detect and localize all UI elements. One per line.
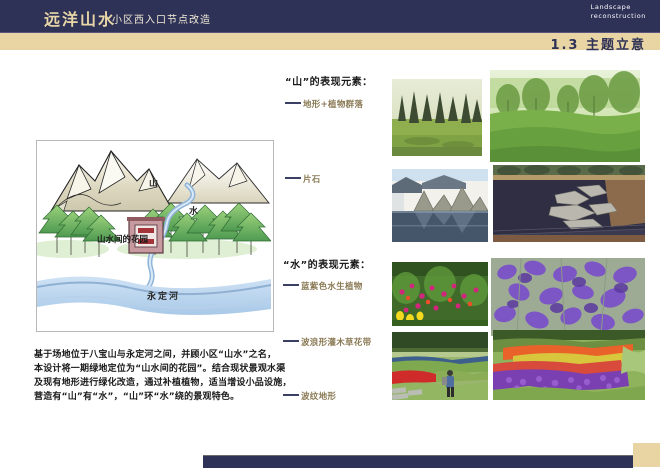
- footer-accent-block: [633, 443, 660, 467]
- page-header: 远洋山水 小区西入口节点改造 Landscape reconstruction: [0, 0, 660, 32]
- leader-line-icon: [283, 340, 299, 342]
- diagram-label-garden: 山水间的花园: [97, 233, 148, 245]
- description-line-2: 本设计将一期绿地定位为“山水间的花园”。结合现状景观水渠: [34, 362, 296, 376]
- brand-subtitle: 小区西入口节点改造: [112, 11, 211, 26]
- mountain-elements-heading: “山”的表现元素：: [285, 73, 373, 88]
- english-title-line1: Landscape: [591, 3, 646, 12]
- photo-conifer-lawn: [392, 79, 482, 156]
- description-line-4: 营造有“山”有“水”，“山”环“水”绕的景观特色。: [34, 390, 296, 404]
- diagram-label-river: 永定河: [147, 289, 180, 302]
- diagram-label-water: 水: [189, 204, 199, 217]
- mountain-element-item-1: 地形+植物群落: [285, 98, 373, 110]
- footer-bar: [203, 455, 633, 468]
- water-elements-heading: “水”的表现元素：: [283, 256, 371, 271]
- leader-line-icon: [283, 394, 299, 396]
- leader-line-icon: [283, 284, 299, 286]
- photo-white-wall-rockery: [392, 169, 488, 242]
- english-title: Landscape reconstruction: [591, 3, 646, 21]
- photo-wave-flower-beds: [493, 330, 645, 400]
- concept-diagram: 山 水 山水间的花园 永定河: [36, 140, 274, 332]
- description-line-1: 基于场地位于八宝山与永定河之间，并顾小区“山水”之名，: [34, 348, 296, 362]
- photo-stone-water-court: [493, 165, 645, 242]
- photo-mixed-perennials: [392, 262, 488, 326]
- water-element-item-1: 蓝紫色水生植物: [283, 280, 371, 292]
- diagram-label-mountain: 山: [149, 176, 159, 189]
- mountain-element-item-2: 片石: [285, 173, 373, 185]
- section-band-rule: [0, 32, 660, 33]
- water-element-item-2: 波浪形灌木草花带: [283, 336, 371, 348]
- brand-title: 远洋山水: [44, 6, 116, 30]
- water-elements-block: “水”的表现元素： 蓝紫色水生植物 波浪形灌木草花带 波纹地形: [283, 256, 371, 402]
- water-element-item-3: 波纹地形: [283, 390, 371, 402]
- photo-purple-clematis: [491, 258, 645, 336]
- concept-description: 基于场地位于八宝山与永定河之间，并顾小区“山水”之名， 本设计将一期绿地定位为“…: [34, 348, 296, 404]
- mountain-elements-block: “山”的表现元素： 地形+植物群落 片石: [285, 73, 373, 185]
- photo-red-flower-band: [392, 332, 488, 400]
- photo-green-mound-lawn: [490, 70, 640, 162]
- leader-line-icon: [285, 177, 301, 179]
- english-title-line2: reconstruction: [591, 12, 646, 21]
- section-number: 1.3 主题立意: [550, 34, 646, 53]
- description-line-3: 及现有地形进行绿化改造，通过补植植物，适当增设小品设施，: [34, 376, 296, 390]
- leader-line-icon: [285, 102, 301, 104]
